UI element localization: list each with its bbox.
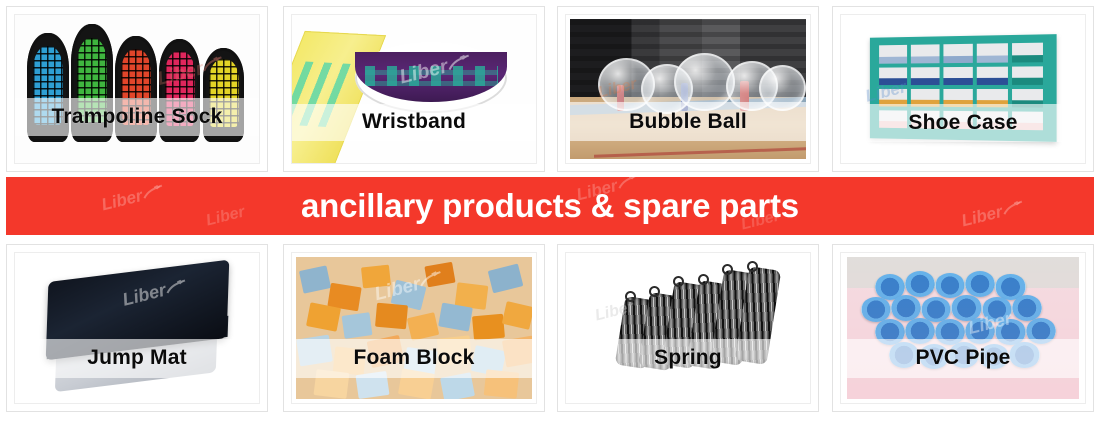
product-image-foam-block: Liber xyxy=(296,257,532,399)
product-label-band: Bubble Ball xyxy=(566,102,810,140)
card-inner: Liber Jump Mat xyxy=(14,252,260,404)
product-label-band: Spring xyxy=(566,339,810,378)
product-card-bubble-ball[interactable]: Liber Bubble Ball xyxy=(557,6,819,172)
product-label-wristband: Wristband xyxy=(362,110,466,134)
product-label-trampoline-sock: Trampoline Sock xyxy=(51,105,222,129)
product-card-pvc-pipe[interactable]: Liber PVC Pipe xyxy=(832,244,1094,412)
product-image-wristband: Liber xyxy=(292,15,536,163)
category-banner-title: ancillary products & spare parts xyxy=(6,177,1094,235)
card-inner: Liber Trampoline Sock xyxy=(14,14,260,164)
product-card-foam-block[interactable]: Liber Foam Block xyxy=(283,244,545,412)
product-label-pvc-pipe: PVC Pipe xyxy=(916,346,1011,370)
card-inner: Liber Spring xyxy=(565,252,811,404)
card-inner: Liber Wristband xyxy=(291,14,537,164)
product-label-band: Foam Block xyxy=(292,339,536,378)
product-label-band: Trampoline Sock xyxy=(15,98,259,136)
product-label-band: Wristband xyxy=(292,104,536,141)
card-inner: Liber Foam Block xyxy=(291,252,537,404)
product-card-trampoline-sock[interactable]: Liber Trampoline Sock xyxy=(6,6,268,172)
card-inner: Liber Bubble Ball xyxy=(565,14,811,164)
product-label-band: PVC Pipe xyxy=(841,339,1085,378)
product-card-jump-mat[interactable]: Liber Jump Mat xyxy=(6,244,268,412)
product-label-foam-block: Foam Block xyxy=(353,346,474,370)
category-banner: Liber Liber Liber Liber Liber xyxy=(6,177,1094,235)
product-card-wristband[interactable]: Liber Wristband xyxy=(283,6,545,172)
product-label-jump-mat: Jump Mat xyxy=(87,346,187,370)
product-image-trampoline-sock: Liber xyxy=(15,15,259,163)
product-image-jump-mat: Liber xyxy=(15,253,259,403)
card-inner: Liber Shoe Case xyxy=(840,14,1086,164)
product-category-collage: Liber Trampoline Sock Lib xyxy=(0,0,1100,427)
product-label-shoe-case: Shoe Case xyxy=(908,111,1017,135)
product-label-spring: Spring xyxy=(654,346,722,370)
product-image-spring: Liber xyxy=(566,253,810,403)
product-image-pvc-pipe: Liber xyxy=(847,257,1079,399)
product-label-bubble-ball: Bubble Ball xyxy=(629,110,747,134)
product-card-spring[interactable]: Liber Spring xyxy=(557,244,819,412)
product-label-band: Shoe Case xyxy=(841,104,1085,142)
card-inner: Liber PVC Pipe xyxy=(840,252,1086,404)
product-label-band: Jump Mat xyxy=(15,339,259,378)
product-card-shoe-case[interactable]: Liber Shoe Case xyxy=(832,6,1094,172)
